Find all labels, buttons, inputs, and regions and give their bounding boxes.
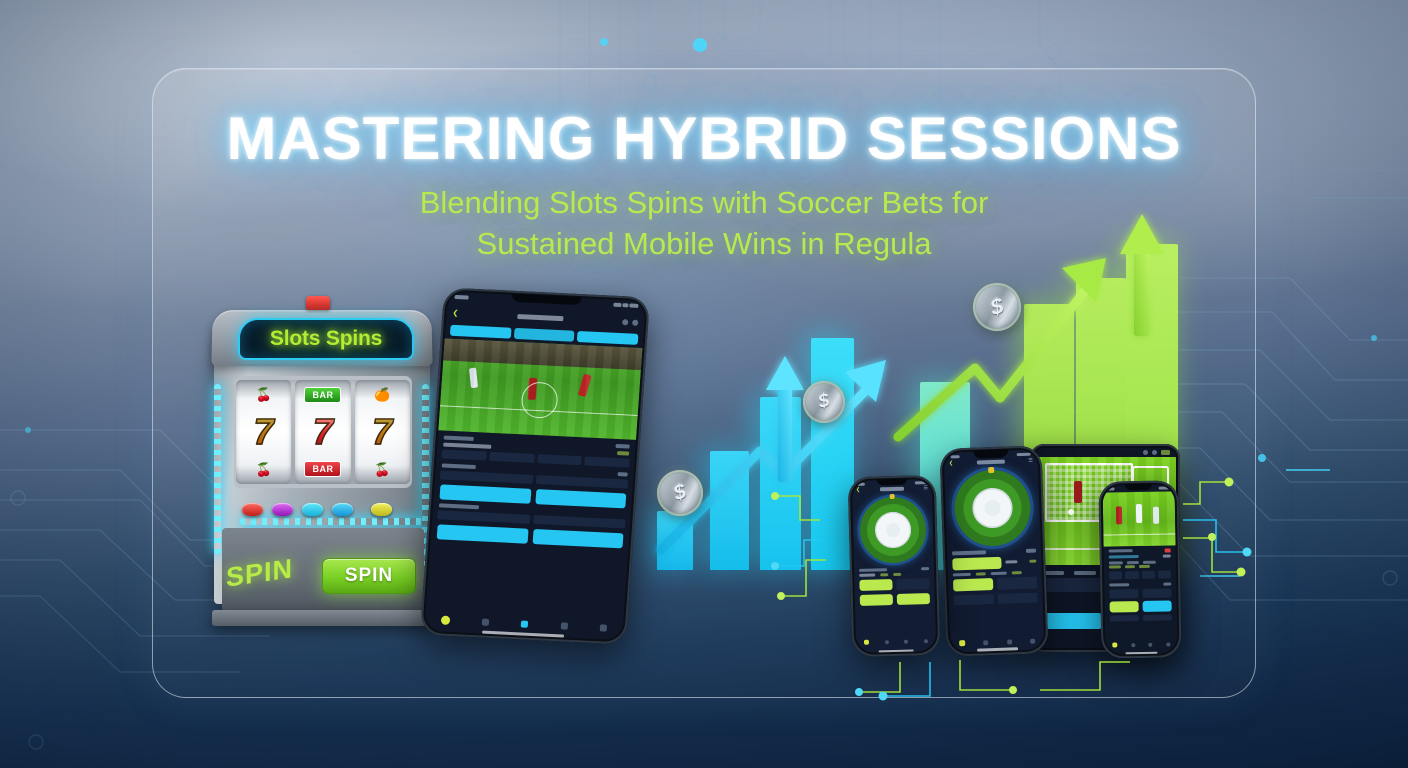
bottom-nav-bar[interactable] xyxy=(856,638,936,645)
chip-button[interactable] xyxy=(954,594,994,605)
slot-machine-top-button[interactable] xyxy=(306,296,330,310)
back-icon[interactable]: ❮ xyxy=(856,487,860,493)
small-bet-button-1[interactable] xyxy=(860,594,893,606)
nav-account-icon[interactable] xyxy=(599,624,606,631)
page-title: MASTERING HYBRID SESSIONS xyxy=(0,104,1408,173)
odds-cell[interactable] xyxy=(1042,578,1102,592)
roulette-secondary-button[interactable] xyxy=(997,577,1037,590)
tablet-app-bar[interactable] xyxy=(1034,448,1176,457)
small-secondary-button[interactable] xyxy=(896,578,929,590)
nav-games-icon[interactable] xyxy=(1007,639,1012,644)
reel-2-top-symbol: BAR xyxy=(304,387,341,403)
tab-two[interactable] xyxy=(513,328,574,342)
subtitle-line-1: Blending Slots Spins with Soccer Bets fo… xyxy=(0,182,1408,223)
control-button-cyan-2[interactable] xyxy=(332,503,353,516)
place-bet-button-3[interactable] xyxy=(437,524,528,543)
roulette-chip-row[interactable] xyxy=(948,590,1042,607)
cast-icon[interactable] xyxy=(1152,450,1157,455)
odds-cell[interactable] xyxy=(1158,570,1171,578)
chip-button[interactable] xyxy=(997,593,1037,604)
roulette-stake-label xyxy=(1005,555,1036,568)
match-bet-button-lime[interactable] xyxy=(1110,601,1139,613)
slot-control-buttons[interactable] xyxy=(242,498,410,520)
nav-live-icon[interactable] xyxy=(521,620,528,627)
nav-home-icon[interactable] xyxy=(1112,642,1117,647)
control-button-magenta[interactable] xyxy=(272,503,293,516)
reel-2-bottom-symbol: BAR xyxy=(304,461,341,477)
match-action-row[interactable] xyxy=(1105,598,1177,614)
match-preview-video[interactable] xyxy=(1103,491,1176,546)
phone-notch xyxy=(877,479,907,486)
control-button-yellow[interactable] xyxy=(371,503,392,516)
odds-cell[interactable] xyxy=(584,456,629,467)
live-match-video[interactable] xyxy=(438,338,642,439)
reel-1-bottom-symbol: 🍒 xyxy=(256,463,272,476)
tab-three[interactable] xyxy=(577,331,638,345)
led-strip-left xyxy=(214,384,221,554)
phone-roulette-small-screen: ❮ ☰ xyxy=(852,479,936,653)
slot-reel-2: BAR 7 BAR xyxy=(295,380,350,484)
nav-stats-icon[interactable] xyxy=(560,622,567,629)
match-footer-row xyxy=(1105,613,1177,622)
odds-cell[interactable] xyxy=(1109,589,1138,599)
bottom-nav-bar[interactable] xyxy=(425,615,623,634)
footer-cell xyxy=(1110,615,1139,622)
phone-notch xyxy=(973,449,1008,458)
bottom-nav-bar[interactable] xyxy=(1105,641,1177,647)
odds-cell[interactable] xyxy=(1109,571,1122,579)
nav-profile-icon[interactable] xyxy=(1030,638,1035,643)
phone-main-soccer-betting[interactable]: ❮ xyxy=(420,287,650,644)
odds-cell[interactable] xyxy=(1142,588,1171,598)
phone-main-screen: ❮ xyxy=(424,292,646,641)
nav-home-icon[interactable] xyxy=(441,616,451,625)
phone-notch xyxy=(1125,484,1152,490)
nav-stats-icon[interactable] xyxy=(1149,642,1153,646)
menu-icon[interactable]: ☰ xyxy=(923,485,928,491)
odds-cell[interactable] xyxy=(489,452,534,463)
reel-2-middle-symbol: 7 xyxy=(313,417,333,448)
appbar-icons[interactable] xyxy=(621,312,639,331)
settings-icon[interactable] xyxy=(1143,450,1148,455)
control-button-red[interactable] xyxy=(242,503,263,516)
app-title xyxy=(517,313,563,320)
app-title xyxy=(880,487,904,491)
nav-bets-icon[interactable] xyxy=(482,619,489,626)
roulette-spin-button[interactable] xyxy=(952,556,1002,570)
slot-reels-window: 🍒 7 🍒 BAR 7 BAR 🍊 7 🍒 xyxy=(234,376,412,488)
footer-cell xyxy=(1143,614,1172,621)
slot-machine[interactable]: Slots Spins 🍒 7 🍒 BAR 7 BAR 🍊 7 🍒 xyxy=(196,292,452,648)
nav-home-icon[interactable] xyxy=(864,640,869,645)
phone-match-list[interactable] xyxy=(1098,480,1181,658)
live-badge xyxy=(1165,548,1171,552)
nav-games-icon[interactable] xyxy=(904,639,908,643)
reel-3-bottom-symbol: 🍒 xyxy=(374,463,390,476)
home-indicator xyxy=(977,647,1018,651)
roulette-bet-button[interactable] xyxy=(953,578,993,591)
phone-roulette-large[interactable]: ❮ ☰ xyxy=(939,445,1048,656)
place-bet-button-1[interactable] xyxy=(439,484,530,503)
bar-2 xyxy=(710,451,749,570)
reel-1-middle-symbol: 7 xyxy=(254,417,274,448)
small-bet-button-2[interactable] xyxy=(897,593,930,605)
bottom-nav-bar[interactable] xyxy=(950,637,1044,646)
odds-cell[interactable] xyxy=(1125,571,1138,579)
app-title xyxy=(977,460,1005,465)
bar-1 xyxy=(657,511,693,570)
nav-home-icon[interactable] xyxy=(959,640,965,646)
bar-3 xyxy=(760,397,801,570)
bar-4 xyxy=(811,338,854,570)
home-indicator xyxy=(1125,652,1157,655)
tab-one[interactable] xyxy=(450,325,511,339)
roulette-wheel[interactable] xyxy=(859,496,927,564)
odds-cell[interactable] xyxy=(1142,571,1155,579)
control-button-cyan-1[interactable] xyxy=(302,503,323,516)
tablet-bet-button-cyan[interactable] xyxy=(1042,613,1102,629)
spin-button[interactable]: SPIN xyxy=(322,558,416,594)
nav-profile-icon[interactable] xyxy=(924,639,928,643)
marquee-label: Slots Spins xyxy=(270,327,382,351)
menu-icon[interactable]: ☰ xyxy=(1028,458,1033,464)
slot-reel-3: 🍊 7 🍒 xyxy=(355,380,410,484)
place-bet-button-2[interactable] xyxy=(535,489,626,508)
home-indicator xyxy=(879,650,914,653)
spin-button-label: SPIN xyxy=(345,565,393,587)
roulette-wheel[interactable] xyxy=(953,469,1032,548)
nav-wallet-icon[interactable] xyxy=(983,640,988,645)
poster-canvas: MASTERING HYBRID SESSIONS Blending Slots… xyxy=(0,0,1408,768)
phone-roulette-small[interactable]: ❮ ☰ xyxy=(848,475,941,657)
reel-1-top-symbol: 🍒 xyxy=(256,388,272,401)
back-icon[interactable]: ❮ xyxy=(452,309,458,317)
nav-profile-icon[interactable] xyxy=(1166,642,1170,646)
phone-roulette-large-screen: ❮ ☰ xyxy=(944,449,1045,652)
slot-reel-1: 🍒 7 🍒 xyxy=(236,380,291,484)
small-spin-button[interactable] xyxy=(859,579,892,591)
reel-3-top-symbol: 🍊 xyxy=(374,388,390,401)
slot-machine-marquee: Slots Spins xyxy=(238,318,414,360)
odds-cell[interactable] xyxy=(537,454,582,465)
place-bet-button-4[interactable] xyxy=(532,529,623,548)
phone-match-list-screen xyxy=(1103,484,1178,654)
battery-icon xyxy=(1161,450,1170,455)
nav-wallet-icon[interactable] xyxy=(885,640,889,644)
slot-machine-foot xyxy=(212,610,434,626)
odds-cell[interactable] xyxy=(441,449,486,460)
match-bet-button-cyan[interactable] xyxy=(1143,600,1172,612)
reel-3-middle-symbol: 7 xyxy=(372,417,392,448)
back-icon[interactable]: ❮ xyxy=(949,460,953,466)
small-action-row-2[interactable] xyxy=(855,591,935,608)
nav-bets-icon[interactable] xyxy=(1131,643,1135,647)
